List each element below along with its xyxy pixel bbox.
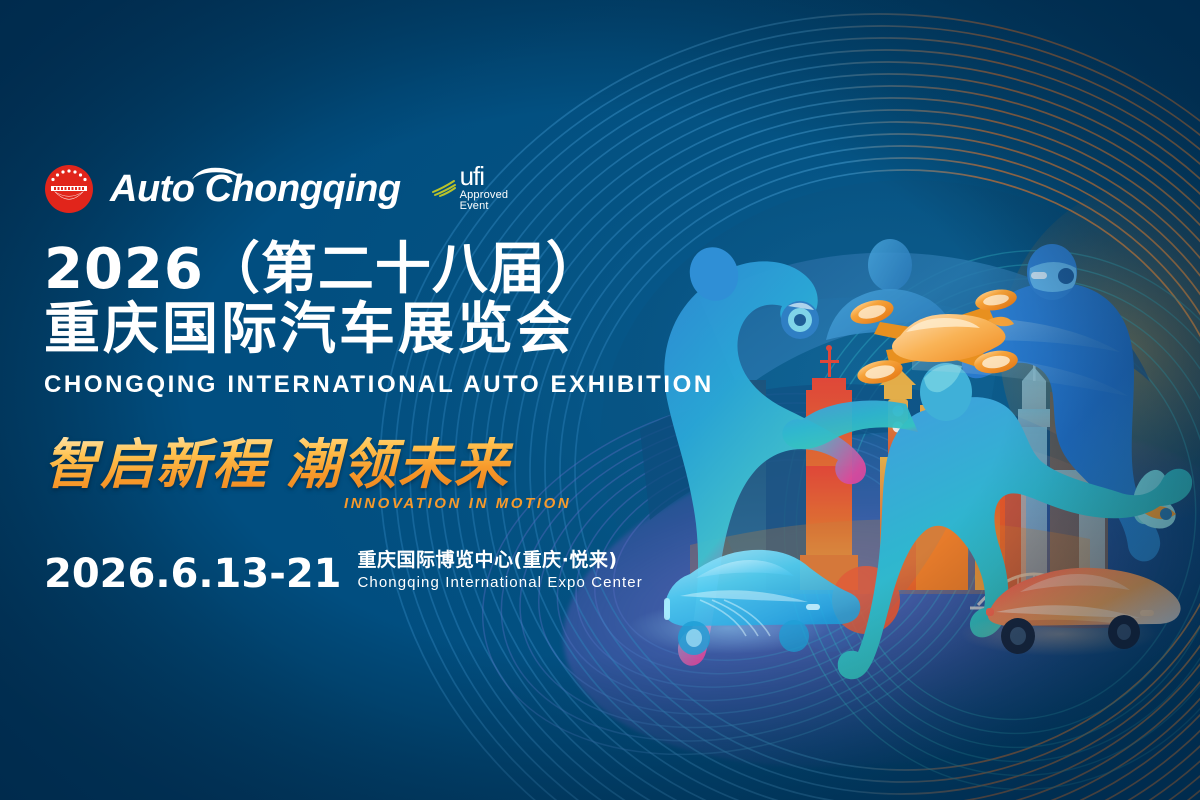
car-swoosh-icon	[188, 166, 246, 182]
event-venue: 重庆国际博览中心(重庆·悦来) Chongqing International …	[357, 549, 642, 594]
ufi-event-label: Event	[460, 201, 509, 212]
title-line-2: 重庆国际汽车展览会	[44, 300, 664, 360]
ufi-swoosh-icon	[431, 177, 457, 197]
ufi-approved-event-logo: ufi Approved Event	[431, 163, 509, 212]
venue-name-cn: 重庆国际博览中心(重庆·悦来)	[357, 549, 642, 572]
poster-canvas: Auto Chongqing ufi Approved Event	[0, 0, 1200, 800]
slogan-english: INNOVATION IN MOTION	[344, 495, 571, 512]
slogan-chinese: 智启新程潮领未来	[44, 437, 664, 494]
brand-wordmark: Auto Chongqing	[110, 170, 401, 208]
ufi-text: ufi Approved Event	[460, 163, 509, 212]
brand-row: Auto Chongqing ufi Approved Event	[44, 160, 664, 218]
page-title: 2026（第二十八届） 重庆国际汽车展览会	[44, 240, 664, 361]
event-date: 2026.6.13-21	[44, 554, 341, 594]
slogan-part-2: 潮领未来	[286, 433, 510, 496]
poster-text-block: Auto Chongqing ufi Approved Event	[44, 160, 664, 594]
venue-name-en: Chongqing International Expo Center	[357, 573, 642, 593]
camera-device	[781, 301, 819, 339]
vr-headset-head	[1027, 244, 1077, 300]
ufi-approved-label: Approved	[460, 190, 509, 201]
brand-wordmark-text: Auto Chongqing	[110, 168, 401, 210]
title-line-1: 2026（第二十八届）	[44, 237, 603, 302]
ufi-mark: ufi	[460, 163, 509, 189]
slogan-block: 智启新程潮领未来 INNOVATION IN MOTION	[44, 437, 664, 515]
event-info-row: 2026.6.13-21 重庆国际博览中心(重庆·悦来) Chongqing I…	[44, 549, 664, 594]
auto-chongqing-emblem	[44, 164, 94, 214]
slogan-part-1: 智启新程	[44, 433, 268, 496]
title-english: CHONGQING INTERNATIONAL AUTO EXHIBITION	[44, 371, 664, 399]
